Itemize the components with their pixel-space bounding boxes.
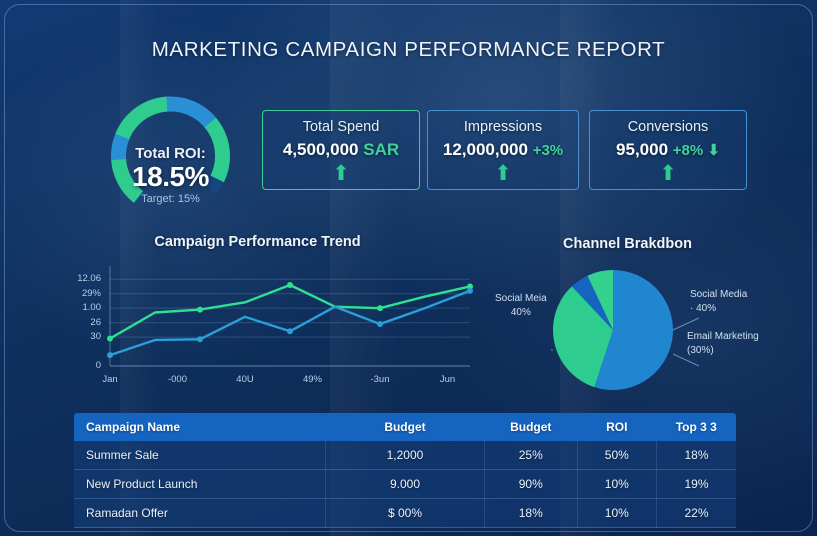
data-point	[197, 336, 203, 342]
table-cell-budget-1: $ 00%	[326, 499, 485, 528]
data-point	[107, 336, 113, 342]
kpi-card-conversions[interactable]: Conversions 95,000 +8% ⬇ ⬆	[589, 110, 747, 190]
table-row[interactable]: New Product Launch9.00090%10%19%	[74, 470, 736, 499]
table-cell-campaign: Ramadan Offer	[74, 499, 326, 528]
table-cell-budget-2: 90%	[484, 470, 577, 499]
kpi-value: 12,000,000 +3%	[428, 140, 578, 160]
chart-title: Channel Brakdbon	[485, 236, 770, 252]
x-axis-tick-label: -3un	[357, 374, 403, 385]
kpi-title: Impressions	[428, 119, 578, 135]
y-axis-tick-label: 12.06	[57, 273, 101, 284]
kpi-delta: +3%	[533, 142, 563, 159]
y-axis-tick-label: 26	[57, 317, 101, 328]
kpi-title: Conversions	[590, 119, 746, 135]
kpi-unit: SAR	[363, 140, 399, 159]
data-point	[287, 328, 293, 334]
dashboard-root: MARKETING CAMPAIGN PERFORMANCE REPORT To…	[0, 0, 817, 536]
table-cell-top3: 22%	[657, 499, 736, 528]
kpi-card-impressions[interactable]: Impressions 12,000,000 +3% ⬆	[427, 110, 579, 190]
gauge-value: 18.5%	[98, 161, 243, 193]
kpi-number: 95,000	[616, 140, 668, 159]
campaign-table-element: Campaign Name Budget Budget ROI Top 3 3 …	[74, 413, 736, 528]
campaign-table: Campaign Name Budget Budget ROI Top 3 3 …	[74, 413, 736, 528]
y-axis-tick-label: 30	[57, 331, 101, 342]
table-row[interactable]: Summer Sale1,200025%50%18%	[74, 441, 736, 470]
pie-label-text: Social Meia	[495, 292, 547, 306]
table-cell-budget-2: 25%	[484, 441, 577, 470]
total-roi-gauge: Total ROI: 18.5% Target: 15%	[98, 87, 243, 215]
table-header-campaign-name[interactable]: Campaign Name	[74, 413, 326, 441]
table-cell-roi: 10%	[577, 470, 656, 499]
pie-label-left: Social Meia40%	[495, 292, 547, 319]
trend-up-arrow-icon: ⬆	[263, 163, 419, 184]
x-axis-tick-label: -000	[155, 374, 201, 385]
table-cell-campaign: New Product Launch	[74, 470, 326, 499]
table-cell-top3: 19%	[657, 470, 736, 499]
channel-breakdown-chart: Channel Brakdbon Social Meia40%Social Me…	[485, 230, 810, 405]
pie-label-text: Email Marketing	[687, 330, 759, 344]
table-cell-budget-2: 18%	[484, 499, 577, 528]
kpi-value: 4,500,000 SAR	[263, 140, 419, 160]
kpi-number: 12,000,000	[443, 140, 528, 159]
data-point	[377, 321, 383, 327]
pie-label-value: (30%)	[687, 344, 759, 358]
kpi-number: 4,500,000	[283, 140, 359, 159]
data-point	[197, 307, 203, 313]
kpi-delta: +8% ⬇	[673, 142, 720, 159]
trend-up-arrow-icon: ⬆	[428, 163, 578, 184]
page-title: MARKETING CAMPAIGN PERFORMANCE REPORT	[0, 38, 817, 62]
chart-title: Campaign Performance Trend	[95, 234, 420, 250]
data-point	[287, 282, 293, 288]
x-axis-tick-label: 49%	[290, 374, 336, 385]
data-point	[467, 288, 473, 294]
kpi-card-total-spend[interactable]: Total Spend 4,500,000 SAR ⬆	[262, 110, 420, 190]
table-cell-budget-1: 1,2000	[326, 441, 485, 470]
y-axis-tick-label: 29%	[57, 288, 101, 299]
kpi-row: Total ROI: 18.5% Target: 15% Total Spend…	[0, 85, 817, 215]
kpi-title: Total Spend	[263, 119, 419, 135]
table-cell-roi: 50%	[577, 441, 656, 470]
table-head: Campaign Name Budget Budget ROI Top 3 3	[74, 413, 736, 441]
pie-label-right-top: Social Media· 40%	[690, 288, 747, 315]
table-header-top3[interactable]: Top 3 3	[657, 413, 736, 441]
table-cell-campaign: Summer Sale	[74, 441, 326, 470]
table-header-row: Campaign Name Budget Budget ROI Top 3 3	[74, 413, 736, 441]
table-body: Summer Sale1,200025%50%18%New Product La…	[74, 441, 736, 528]
gauge-target: Target: 15%	[98, 193, 243, 205]
table-cell-budget-1: 9.000	[326, 470, 485, 499]
table-cell-top3: 18%	[657, 441, 736, 470]
campaign-performance-trend-chart: Campaign Performance Trend 12.0629%1.002…	[55, 230, 480, 405]
pie-label-right-bottom: Email Marketing(30%)	[687, 330, 759, 357]
pie-leader-line	[673, 318, 699, 330]
x-axis-tick-label: 40U	[222, 374, 268, 385]
pie-label-value: 40%	[495, 306, 547, 320]
table-cell-roi: 10%	[577, 499, 656, 528]
table-header-roi[interactable]: ROI	[577, 413, 656, 441]
table-header-budget-2[interactable]: Budget	[484, 413, 577, 441]
pie-label-value: · 40%	[690, 302, 747, 316]
kpi-value: 95,000 +8% ⬇	[590, 140, 746, 160]
data-point	[107, 352, 113, 358]
table-row[interactable]: Ramadan Offer$ 00%18%10%22%	[74, 499, 736, 528]
pie-label-text: Social Media	[690, 288, 747, 302]
data-point	[377, 305, 383, 311]
gauge-label: Total ROI:	[98, 145, 243, 162]
trend-up-arrow-icon: ⬆	[590, 163, 746, 184]
x-axis-tick-label: Jun	[425, 374, 471, 385]
x-axis-tick-label: Jan	[87, 374, 133, 385]
table-header-budget-1[interactable]: Budget	[326, 413, 485, 441]
y-axis-tick-label: 1.00	[57, 302, 101, 313]
y-axis-tick-label: 0	[57, 360, 101, 371]
